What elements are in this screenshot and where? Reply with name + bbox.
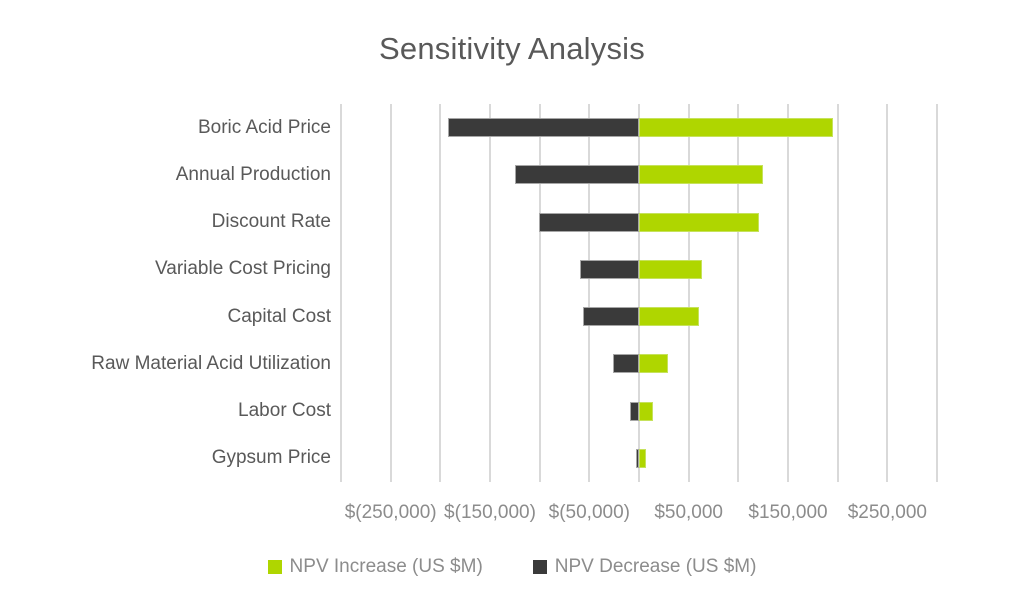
x-tick-label: $(250,000): [345, 500, 437, 526]
legend-label: NPV Increase (US $M): [290, 556, 483, 578]
sensitivity-analysis-chart: Sensitivity Analysis Boric Acid PriceAnn…: [0, 0, 1024, 614]
x-tick-label: $(150,000): [444, 500, 536, 526]
gridline: [588, 104, 590, 482]
x-tick-label: $250,000: [848, 500, 927, 526]
gridline: [390, 104, 392, 482]
bar-row: [341, 260, 937, 279]
x-tick-label: $150,000: [748, 500, 827, 526]
legend-item[interactable]: NPV Decrease (US $M): [533, 556, 757, 578]
bar-npv-decrease: [630, 402, 639, 421]
category-label: Discount Rate: [1, 211, 331, 233]
category-label: Raw Material Acid Utilization: [1, 353, 331, 375]
bar-npv-decrease: [583, 307, 639, 326]
zero-axis-line: [638, 104, 640, 482]
x-tick-label: $(50,000): [549, 500, 630, 526]
bar-npv-decrease: [580, 260, 639, 279]
bar-row: [341, 449, 937, 468]
gridline: [539, 104, 541, 482]
plot-area: [341, 104, 937, 482]
bar-row: [341, 118, 937, 137]
bar-row: [341, 402, 937, 421]
gridline: [936, 104, 938, 482]
bar-npv-increase: [639, 260, 702, 279]
category-label: Boric Acid Price: [1, 117, 331, 139]
category-label: Gypsum Price: [1, 447, 331, 469]
chart-title: Sensitivity Analysis: [0, 30, 1024, 68]
gridline: [489, 104, 491, 482]
legend-swatch-icon: [533, 560, 547, 574]
bar-npv-increase: [639, 354, 668, 373]
bar-npv-increase: [639, 213, 759, 232]
bar-npv-decrease: [515, 165, 639, 184]
x-tick-label: $50,000: [654, 500, 723, 526]
bar-npv-increase: [639, 118, 833, 137]
bar-npv-increase: [639, 449, 646, 468]
gridline: [787, 104, 789, 482]
y-axis-category-labels: Boric Acid PriceAnnual ProductionDiscoun…: [0, 104, 331, 482]
gridline: [688, 104, 690, 482]
bar-npv-increase: [639, 165, 763, 184]
bar-npv-increase: [639, 402, 653, 421]
gridline: [886, 104, 888, 482]
legend-swatch-icon: [268, 560, 282, 574]
category-label: Capital Cost: [1, 306, 331, 328]
bar-row: [341, 165, 937, 184]
bar-row: [341, 213, 937, 232]
x-axis-tick-labels: $(250,000)$(150,000)$(50,000)$50,000$150…: [0, 500, 1024, 530]
bar-npv-decrease: [613, 354, 639, 373]
bar-npv-decrease: [448, 118, 639, 137]
category-label: Labor Cost: [1, 400, 331, 422]
gridline: [737, 104, 739, 482]
legend-label: NPV Decrease (US $M): [555, 556, 757, 578]
gridline: [837, 104, 839, 482]
bar-npv-increase: [639, 307, 699, 326]
chart-legend: NPV Increase (US $M)NPV Decrease (US $M): [0, 556, 1024, 578]
gridline: [439, 104, 441, 482]
bar-row: [341, 354, 937, 373]
gridline: [340, 104, 342, 482]
legend-item[interactable]: NPV Increase (US $M): [268, 556, 483, 578]
category-label: Annual Production: [1, 164, 331, 186]
bar-row: [341, 307, 937, 326]
category-label: Variable Cost Pricing: [1, 258, 331, 280]
bar-npv-decrease: [539, 213, 639, 232]
